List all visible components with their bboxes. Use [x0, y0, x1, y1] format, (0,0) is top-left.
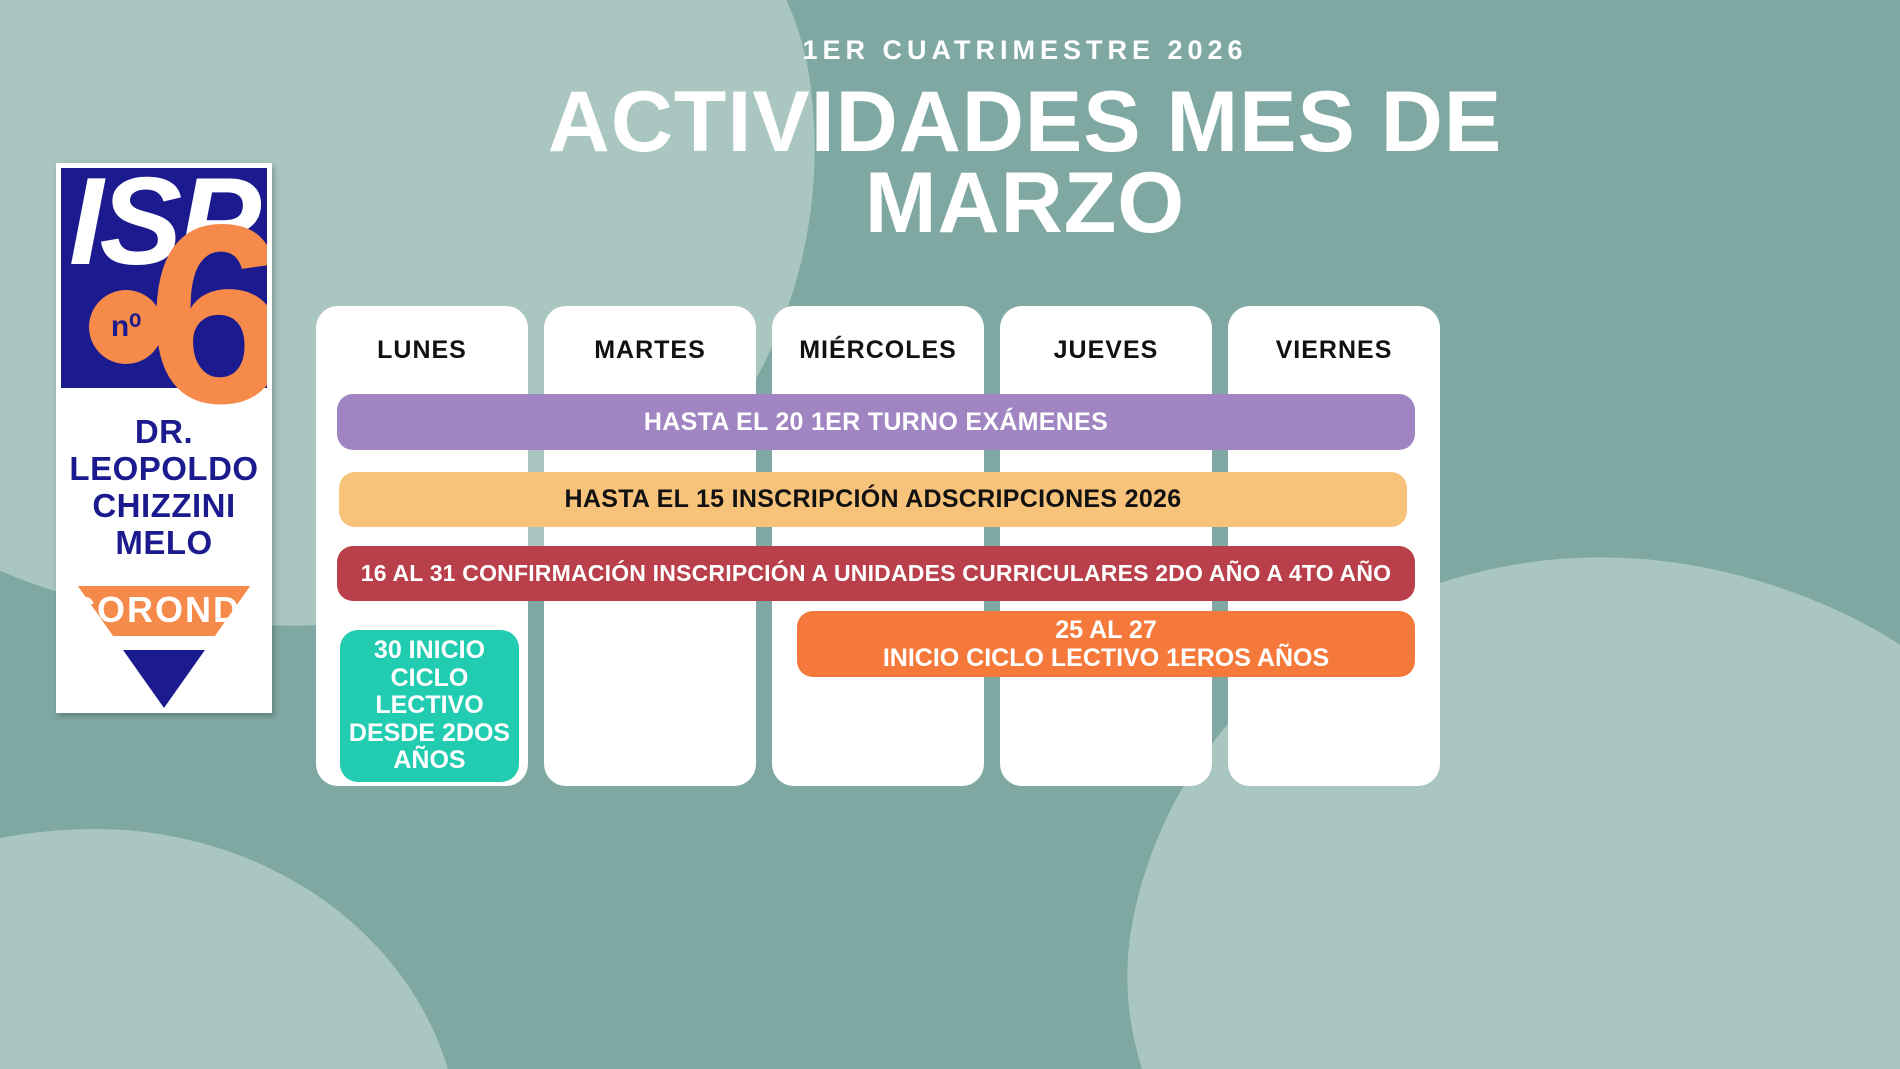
logo-triangle-icon — [97, 650, 231, 710]
event-label-adscripciones: HASTA EL 15 INSCRIPCIÓN ADSCRIPCIONES 20… — [565, 485, 1182, 514]
day-header-miercoles: MIÉRCOLES — [772, 336, 984, 365]
day-header-martes: MARTES — [544, 336, 756, 365]
logo-name-line-3: CHIZZINI — [92, 487, 235, 524]
institution-logo: ISP n⁰ 6 DR. LEOPOLDO CHIZZINI MELO CORO… — [56, 163, 272, 713]
logo-city-banner: CORONDA — [69, 586, 259, 636]
event-label-inicio-2dos-line-1: 30 INICIO — [374, 637, 485, 665]
background-blob-bottom-left — [0, 829, 460, 1069]
day-header-viernes: VIERNES — [1228, 336, 1440, 365]
logo-number: 6 — [147, 216, 289, 415]
poster-header: 1ER CUATRIMESTRE 2026 ACTIVIDADES MES DE… — [470, 34, 1580, 244]
term-label: 1ER CUATRIMESTRE 2026 — [470, 34, 1580, 66]
logo-number-label: n⁰ — [111, 312, 141, 342]
page-title-line-2: MARZO — [865, 155, 1185, 251]
event-label-inicio-2dos-line-2: CICLO — [391, 665, 469, 693]
event-label-inicio-1eros-line-2: INICIO CICLO LECTIVO 1EROS AÑOS — [883, 644, 1329, 672]
event-label-inicio-2dos-line-3: LECTIVO — [375, 692, 483, 720]
event-bar-examenes[interactable]: HASTA EL 20 1ER TURNO EXÁMENES — [337, 394, 1415, 450]
page-title: ACTIVIDADES MES DE MARZO — [470, 82, 1580, 244]
day-header-jueves: JUEVES — [1000, 336, 1212, 365]
calendar-grid: LUNES MARTES MIÉRCOLES JUEVES VIERNES HA… — [316, 306, 1440, 786]
event-bar-inicio-1eros-anios[interactable]: 25 AL 27 INICIO CICLO LECTIVO 1EROS AÑOS — [797, 611, 1415, 677]
event-bar-confirmacion-inscripcion[interactable]: 16 AL 31 CONFIRMACIÓN INSCRIPCIÓN A UNID… — [337, 546, 1415, 601]
event-label-confirmacion-inscripcion: 16 AL 31 CONFIRMACIÓN INSCRIPCIÓN A UNID… — [361, 560, 1392, 587]
event-label-inicio-1eros-line-1: 25 AL 27 — [1055, 616, 1156, 644]
poster-canvas: 1ER CUATRIMESTRE 2026 ACTIVIDADES MES DE… — [0, 0, 1900, 1069]
logo-shield-shape: ISP n⁰ 6 DR. LEOPOLDO CHIZZINI MELO CORO… — [61, 168, 267, 708]
event-label-examenes: HASTA EL 20 1ER TURNO EXÁMENES — [644, 408, 1108, 437]
day-header-lunes: LUNES — [316, 336, 528, 365]
event-label-inicio-2dos-line-4: DESDE 2DOS — [349, 720, 510, 748]
logo-name-line-4: MELO — [115, 524, 212, 561]
event-label-inicio-2dos-line-5: AÑOS — [393, 747, 465, 775]
event-bar-inicio-2dos-anios[interactable]: 30 INICIO CICLO LECTIVO DESDE 2DOS AÑOS — [340, 630, 519, 782]
event-bar-adscripciones[interactable]: HASTA EL 15 INSCRIPCIÓN ADSCRIPCIONES 20… — [339, 472, 1407, 527]
